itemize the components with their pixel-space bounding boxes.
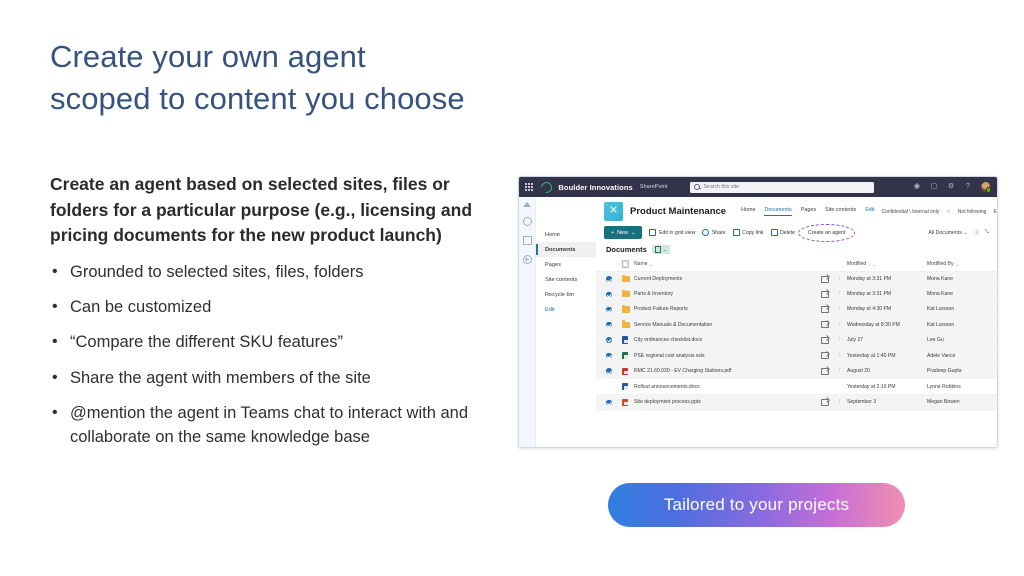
suite-actions: ◉ ▢ ⚙ ? (913, 182, 991, 192)
row-file-icon (622, 332, 634, 348)
info-icon[interactable]: ⓘ (974, 229, 979, 236)
sharepoint-screenshot: Boulder Innovations SharePoint Search th… (518, 176, 998, 448)
chat-icon[interactable]: ▢ (930, 183, 938, 191)
table-row[interactable]: PSE regional cost analysis.xslx ⋮ Yester… (596, 348, 997, 364)
row-share-icon[interactable] (821, 332, 837, 348)
table-row[interactable]: Site deployment process.pptx ⋮ September… (596, 395, 997, 411)
app-launcher-icon[interactable] (525, 183, 533, 191)
row-share-icon[interactable] (821, 317, 837, 332)
tenant-name: Boulder Innovations (558, 183, 632, 192)
row-checkbox[interactable] (596, 395, 622, 411)
list-item-label: Grounded to selected sites, files, folde… (70, 263, 364, 281)
row-modified: September 3 (847, 395, 927, 411)
row-share-icon[interactable] (821, 395, 837, 411)
site-content: ✕ Product Maintenance Home Documents Pag… (596, 197, 997, 447)
page-title: Create your own agent scoped to content … (50, 36, 670, 119)
word-icon (622, 383, 628, 390)
chevron-down-icon: ⌄ (663, 247, 667, 253)
site-logo-icon: ✕ (604, 202, 623, 221)
row-share-icon[interactable] (821, 302, 837, 317)
row-modified: Monday at 3:31 PM (847, 272, 927, 287)
command-bar-right: All Documents ⌄ ⓘ ⤡ (922, 229, 989, 236)
site-header-actions: Confidential \ Internal only ☆ Not follo… (882, 209, 999, 215)
command-bar: + New ⌄ Edit in grid view Share Copy lin… (596, 224, 997, 241)
folder-icon (622, 291, 630, 297)
row-modified: Monday at 3:31 PM (847, 287, 927, 302)
left-content-column: Create an agent based on selected sites,… (50, 172, 510, 461)
documents-table: Name⌄ Modified↓⌄ Modified By⌄ (596, 257, 997, 411)
row-modified: Yesterday at 1:40 PM (847, 348, 927, 364)
create-icon[interactable] (523, 255, 532, 264)
library-header: Documents ⌄ (596, 241, 997, 257)
site-header: ✕ Product Maintenance Home Documents Pag… (596, 197, 997, 224)
row-more-actions[interactable]: ⋮ (837, 363, 847, 379)
language-selector[interactable]: English ⌄ (993, 209, 998, 215)
row-modified: July 27 (847, 332, 927, 348)
bullet-icon: • (52, 261, 58, 284)
row-modified: Wednesday at 8:30 PM (847, 317, 927, 332)
row-checkbox[interactable] (596, 317, 622, 332)
tenant-logo-icon (539, 179, 554, 194)
table-row[interactable]: Parts & Inventory ⋮ Monday at 3:31 PM Mo… (596, 287, 997, 302)
avatar[interactable] (981, 182, 991, 192)
grid-icon (649, 229, 656, 236)
list-item: • “Compare the different SKU features” (50, 331, 510, 354)
sidebar-item-site-contents[interactable]: Site contents (536, 272, 596, 287)
row-name[interactable]: Parts & Inventory (634, 287, 821, 302)
app-name: SharePoint (640, 184, 668, 190)
chevron-down-icon: ⌄ (956, 262, 959, 267)
view-switcher-button[interactable]: ⌄ (652, 245, 670, 254)
row-name[interactable]: Current Deployments (634, 272, 821, 287)
list-item-label: Can be customized (70, 298, 211, 316)
modified-by-column-header[interactable]: Modified By⌄ (927, 257, 997, 272)
suite-bar: Boulder Innovations SharePoint Search th… (519, 177, 997, 197)
row-modified-by: Adele Vance (927, 348, 997, 364)
row-more-actions[interactable]: ⋮ (837, 348, 847, 364)
gear-icon[interactable]: ⚙ (947, 183, 955, 191)
row-name[interactable]: City ordinances checklist.docx (634, 332, 821, 348)
row-file-icon (622, 395, 634, 411)
copy-link-label: Copy link (742, 230, 763, 236)
share-column-header (821, 257, 837, 272)
list-view-icon (655, 246, 661, 253)
pdf-icon (622, 368, 628, 375)
row-more-actions[interactable] (837, 379, 847, 395)
delete-button[interactable]: Delete (771, 229, 796, 236)
word-icon (622, 336, 628, 343)
delete-label: Delete (780, 230, 795, 236)
row-checkbox[interactable] (596, 379, 622, 395)
row-file-icon (622, 302, 634, 317)
sidebar-item-edit[interactable]: Edit (536, 302, 596, 317)
documents-icon[interactable] (523, 236, 532, 245)
app-rail (519, 197, 536, 447)
row-file-icon (622, 317, 634, 332)
row-more-actions[interactable]: ⋮ (837, 287, 847, 302)
folder-icon (622, 322, 630, 328)
edit-in-grid-view-button[interactable]: Edit in grid view (649, 229, 695, 236)
row-checkbox[interactable] (596, 287, 622, 302)
row-checkbox[interactable] (596, 272, 622, 287)
row-share-icon (821, 379, 837, 395)
row-file-icon (622, 379, 634, 395)
row-modified-by: Kat Larsson (927, 317, 997, 332)
table-row[interactable]: Service Manuals & Documentation ⋮ Wednes… (596, 317, 997, 332)
select-all-header[interactable] (596, 257, 622, 272)
list-item: • @mention the agent in Teams chat to in… (50, 402, 510, 449)
copy-link-button[interactable]: Copy link (733, 229, 764, 236)
row-checkbox[interactable] (596, 332, 622, 348)
actions-column-header (837, 257, 847, 272)
folder-icon (622, 276, 630, 282)
row-share-icon[interactable] (821, 348, 837, 364)
document-icon (622, 260, 629, 268)
row-modified-by: Lee Gu (927, 332, 997, 348)
table-row[interactable]: City ordinances checklist.docx ⋮ July 27… (596, 332, 997, 348)
sidebar-item-recycle-bin[interactable]: Recycle bin (536, 287, 596, 302)
row-modified-by: Mona Kane (927, 272, 997, 287)
follow-label[interactable]: Not following (958, 209, 987, 215)
row-more-actions[interactable]: ⋮ (837, 302, 847, 317)
row-file-icon (622, 287, 634, 302)
row-modified: August 20 (847, 363, 927, 379)
table-row[interactable]: Product Failure Reports ⋮ Monday at 4:30… (596, 302, 997, 317)
nav-documents[interactable]: Documents (764, 207, 791, 216)
chevron-down-icon: ⌄ (872, 262, 875, 267)
row-checkbox[interactable] (596, 348, 622, 364)
list-item-label: “Compare the different SKU features” (70, 333, 343, 351)
share-button[interactable]: Share (702, 229, 725, 236)
row-modified: Monday at 4:30 PM (847, 302, 927, 317)
nav-pages[interactable]: Pages (801, 207, 816, 216)
list-item-label: @mention the agent in Teams chat to inte… (70, 404, 468, 445)
row-name[interactable]: Site deployment process.pptx (634, 395, 821, 411)
chevron-down-icon: ⌄ (631, 230, 636, 236)
site-logo-glyph: ✕ (609, 206, 618, 217)
list-item: • Share the agent with members of the si… (50, 367, 510, 390)
list-item-label: Share the agent with members of the site (70, 369, 371, 387)
powerpoint-icon (622, 399, 628, 406)
expand-icon[interactable]: ⤡ (985, 229, 989, 236)
file-type-header (622, 257, 634, 272)
bullet-icon: • (52, 402, 58, 425)
row-name[interactable]: Product Failure Reports (634, 302, 821, 317)
row-more-actions[interactable]: ⋮ (837, 317, 847, 332)
folder-icon (622, 306, 630, 312)
table-row[interactable]: RMC 21.60.030 - EV Charging Stations.pdf… (596, 363, 997, 379)
table-row[interactable]: Rollout announcements.docx Yesterday at … (596, 379, 997, 395)
page-title-line-1: Create your own agent (50, 36, 670, 78)
row-share-icon[interactable] (821, 287, 837, 302)
row-modified-by: Megan Bowen (927, 395, 997, 411)
bullet-icon: • (52, 296, 58, 319)
table-header-row: Name⌄ Modified↓⌄ Modified By⌄ (596, 257, 997, 272)
search-placeholder: Search this site (703, 184, 738, 190)
sensitivity-label: Confidential \ Internal only (882, 209, 940, 215)
excel-icon (622, 352, 628, 359)
sidebar-item-home[interactable]: Home (536, 227, 596, 242)
row-name[interactable]: Service Manuals & Documentation (634, 317, 821, 332)
home-icon[interactable] (523, 202, 531, 207)
new-button-label: New (617, 230, 628, 236)
share-icon (702, 229, 709, 236)
search-input[interactable]: Search this site (690, 182, 874, 193)
nav-edit[interactable]: Edit (865, 207, 874, 216)
tagline-pill: Tailored to your projects (608, 483, 905, 527)
modified-column-header[interactable]: Modified↓⌄ (847, 257, 927, 272)
screenshot-body: Home Documents Pages Site contents Recyc… (519, 197, 997, 447)
chevron-down-icon: ⌄ (650, 262, 653, 267)
row-modified-by: Pradeep Gupta (927, 363, 997, 379)
feature-bullet-list: • Grounded to selected sites, files, fol… (50, 261, 510, 450)
row-name[interactable]: Rollout announcements.docx (634, 379, 821, 395)
row-modified: Yesterday at 2:10 PM (847, 379, 927, 395)
row-name[interactable]: PSE regional cost analysis.xslx (634, 348, 821, 364)
site-navigation: Home Documents Pages Site contents Recyc… (536, 197, 596, 447)
site-top-nav: Home Documents Pages Site contents Edit (741, 207, 874, 216)
create-an-agent-button[interactable]: Create an agent (802, 227, 851, 239)
edit-in-grid-view-label: Edit in grid view (659, 230, 695, 236)
site-title: Product Maintenance (630, 206, 726, 217)
lead-paragraph: Create an agent based on selected sites,… (50, 172, 510, 249)
row-file-icon (622, 363, 634, 379)
help-icon[interactable]: ? (964, 183, 972, 191)
row-more-actions[interactable]: ⋮ (837, 395, 847, 411)
sort-arrow-icon: ↓ (868, 262, 870, 267)
follow-icon[interactable]: ☆ (946, 209, 950, 215)
share-label: Share (712, 230, 726, 236)
row-name[interactable]: RMC 21.60.030 - EV Charging Stations.pdf (634, 363, 821, 379)
row-modified-by: Mona Kane (927, 287, 997, 302)
bullet-icon: • (52, 331, 58, 354)
search-icon (694, 184, 701, 191)
row-modified-by: Lynne Robbins (927, 379, 997, 395)
sidebar-item-documents[interactable]: Documents (536, 242, 596, 257)
nav-site-contents[interactable]: Site contents (825, 207, 856, 216)
row-modified-by: Kat Larsson (927, 302, 997, 317)
nav-home[interactable]: Home (741, 207, 755, 216)
sidebar-item-pages[interactable]: Pages (536, 257, 596, 272)
row-share-icon[interactable] (821, 363, 837, 379)
link-icon (733, 229, 740, 236)
row-more-actions[interactable]: ⋮ (837, 332, 847, 348)
row-checkbox[interactable] (596, 302, 622, 317)
row-more-actions[interactable]: ⋮ (837, 272, 847, 287)
globe-icon[interactable]: ◉ (913, 183, 921, 191)
row-share-icon[interactable] (821, 272, 837, 287)
highlight-ellipse-icon (798, 224, 855, 242)
view-selector[interactable]: All Documents ⌄ (928, 230, 967, 236)
row-checkbox[interactable] (596, 363, 622, 379)
trash-icon (771, 229, 778, 236)
bullet-icon: • (52, 367, 58, 390)
library-title: Documents (606, 245, 647, 254)
table-row[interactable]: Current Deployments ⋮ Monday at 3:31 PM … (596, 272, 997, 287)
list-item: • Can be customized (50, 296, 510, 319)
tagline-label: Tailored to your projects (664, 495, 849, 515)
page-title-line-2: scoped to content you choose (50, 78, 670, 120)
row-file-icon (622, 272, 634, 287)
plus-icon: + (611, 230, 614, 236)
name-column-header[interactable]: Name⌄ (634, 257, 821, 272)
new-button[interactable]: + New ⌄ (604, 226, 642, 239)
recent-icon[interactable] (523, 217, 532, 226)
row-file-icon (622, 348, 634, 364)
list-item: • Grounded to selected sites, files, fol… (50, 261, 510, 284)
